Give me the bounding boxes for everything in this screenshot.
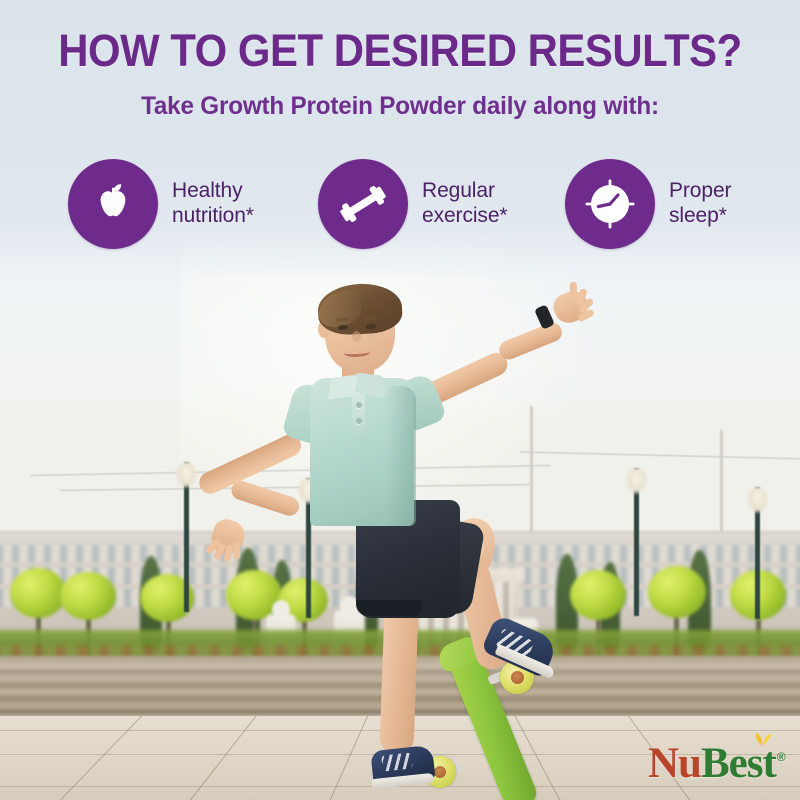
nubest-logo[interactable]: Nu Best ®: [648, 742, 784, 785]
shorts-hem: [356, 600, 422, 616]
poster-root: HOW TO GET DESIRED RESULTS? Take Growth …: [0, 0, 800, 800]
shirt-collar-right: [356, 372, 386, 397]
leaf-icon: [752, 731, 774, 747]
right-hand: [550, 287, 593, 328]
shirt-button: [356, 402, 362, 408]
left-arm-forearm: [229, 478, 301, 518]
badge-label: Regular exercise*: [422, 179, 507, 229]
benefit-badges: Healthy nutrition* Regular exercise*: [0, 158, 800, 254]
sneaker-laces: [381, 752, 413, 771]
badge-label: Proper sleep*: [669, 179, 731, 229]
standing-leg: [379, 603, 418, 754]
logo-text-nu: Nu: [648, 742, 701, 785]
shirt-button: [356, 418, 362, 424]
badge-label: Healthy nutrition*: [172, 179, 254, 229]
left-hand: [208, 516, 249, 558]
logo-text-best: Best: [701, 742, 776, 785]
nose: [352, 331, 361, 342]
dumbbell-icon: [336, 177, 390, 231]
logo-best-word: Best: [701, 740, 776, 787]
badge-healthy-nutrition: Healthy nutrition*: [68, 158, 254, 250]
registered-trademark: ®: [777, 751, 785, 763]
badge-circle: [318, 159, 408, 249]
right-arm-forearm: [496, 320, 564, 362]
shirt-shading: [386, 386, 416, 526]
shirt-placket: [352, 392, 365, 436]
apple-icon: [87, 178, 139, 230]
badge-proper-sleep: Proper sleep*: [565, 158, 731, 250]
badge-circle: [68, 159, 158, 249]
badge-circle: [565, 159, 655, 249]
badge-regular-exercise: Regular exercise*: [318, 158, 507, 250]
page-subtitle: Take Growth Protein Powder daily along w…: [12, 92, 788, 121]
clock-icon: [582, 176, 638, 232]
page-title: HOW TO GET DESIRED RESULTS?: [28, 28, 772, 75]
